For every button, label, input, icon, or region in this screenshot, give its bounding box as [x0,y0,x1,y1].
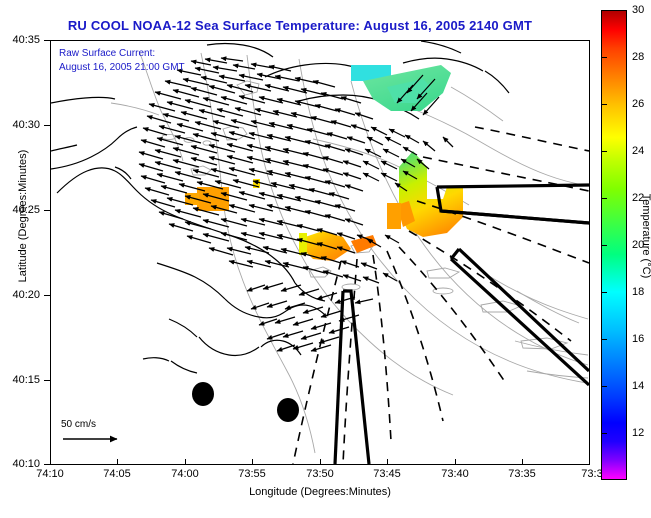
y-tick-label: 40:15 [0,374,40,386]
y-axis-label: Latitude (Degrees:Minutes) [17,101,29,331]
y-tick-label: 40:35 [0,34,40,46]
map-canvas [51,41,589,464]
x-tick-label: 74:05 [103,468,131,480]
bathymetry-contours [111,51,588,453]
x-tick-label: 73:3 [581,468,602,480]
scale-arrow-icon [61,432,131,446]
colorbar-tick-label: 30 [632,4,644,16]
colorbar-tick-label: 12 [632,427,644,439]
x-tick-label: 74:10 [36,468,64,480]
x-axis-label: Longitude (Degrees:Minutes) [50,486,590,498]
x-tick-label: 73:45 [373,468,401,480]
colorbar-axis-label: Temperature (°C) [640,156,651,316]
colorbar-tick-label: 16 [632,333,644,345]
station-markers [192,382,299,422]
map-plot-area[interactable]: Raw Surface Current: August 16, 2005 21:… [50,40,590,465]
y-tick-label: 40:10 [0,458,40,470]
x-tick-label: 73:50 [306,468,334,480]
figure-root: RU COOL NOAA-12 Sea Surface Temperature:… [0,0,651,518]
station-marker [277,398,299,422]
x-tick-label: 73:40 [441,468,469,480]
shipping-lane-polygons [335,185,589,464]
colorbar-tick-label: 14 [632,380,644,392]
station-marker [192,382,214,406]
x-tick-label: 73:55 [238,468,266,480]
page-title: RU COOL NOAA-12 Sea Surface Temperature:… [0,18,600,33]
colorbar-tick-label: 26 [632,98,644,110]
x-tick-label: 74:00 [171,468,199,480]
x-tick-label: 73:35 [508,468,536,480]
scale-legend-label: 50 cm/s [61,419,161,430]
scale-legend: 50 cm/s [61,419,161,446]
colorbar-tick-label: 28 [632,51,644,63]
